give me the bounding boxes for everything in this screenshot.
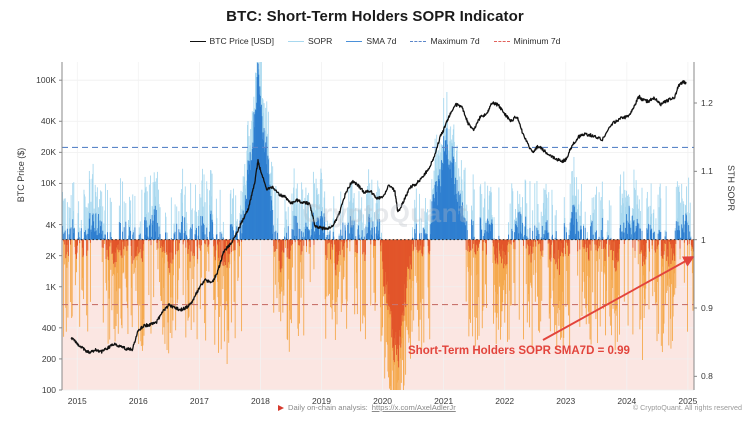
y-tick-right: 0.8 [701,371,713,381]
sopr-annotation-label: Short-Term Holders SOPR SMA7D = 0.99 [408,345,630,357]
legend-label: Maximum 7d [430,36,479,46]
y-tick-right: 0.9 [701,303,713,313]
legend-item-sma-7d[interactable]: SMA 7d [346,36,396,46]
y-tick-left: 1K [0,282,62,292]
footer-credit: Daily on-chain analysis: https://x.com/A… [278,403,456,412]
legend-swatch-icon [190,41,206,42]
y-tick-left: 2K [0,251,62,261]
chart-legend: BTC Price [USD]SOPRSMA 7dMaximum 7dMinim… [0,36,750,46]
legend-swatch-icon [410,41,426,42]
chart-plot-area [0,0,750,422]
y-tick-left: 100 [0,385,62,395]
legend-item-sopr[interactable]: SOPR [288,36,332,46]
legend-swatch-icon [346,41,362,42]
legend-label: Minimum 7d [514,36,561,46]
y-tick-left: 20K [0,147,62,157]
legend-swatch-icon [288,41,304,42]
legend-item-maximum-7d[interactable]: Maximum 7d [410,36,479,46]
y-tick-left: 10K [0,178,62,188]
y-tick-right: 1.1 [701,166,713,176]
y-tick-left: 100K [0,75,62,85]
chart-root: BTC: Short-Term Holders SOPR Indicator B… [0,0,750,422]
legend-item-minimum-7d[interactable]: Minimum 7d [494,36,561,46]
y-tick-left: 400 [0,323,62,333]
legend-swatch-icon [494,41,510,42]
y-tick-right: 1.2 [701,98,713,108]
legend-label: SMA 7d [366,36,396,46]
y-axis-right-label: STH SOPR [726,133,736,243]
legend-label: SOPR [308,36,332,46]
y-axis-left-label: BTC Price ($) [16,120,26,230]
y-tick-right: 1 [701,235,706,245]
footer-link[interactable]: https://x.com/AxelAdlerJr [372,403,456,412]
y-tick-left: 4K [0,220,62,230]
legend-label: BTC Price [USD] [210,36,274,46]
legend-item-btc-price-usd[interactable]: BTC Price [USD] [190,36,274,46]
y-tick-left: 200 [0,354,62,364]
play-triangle-icon [278,405,284,411]
y-tick-left: 40K [0,116,62,126]
chart-footer: Daily on-chain analysis: https://x.com/A… [0,401,750,419]
shaded-region-below-sopr-1 [62,240,694,390]
chart-title: BTC: Short-Term Holders SOPR Indicator [0,8,750,25]
footer-prefix: Daily on-chain analysis: [288,403,368,412]
footer-copyright: © CryptoQuant. All rights reserved [633,403,742,412]
